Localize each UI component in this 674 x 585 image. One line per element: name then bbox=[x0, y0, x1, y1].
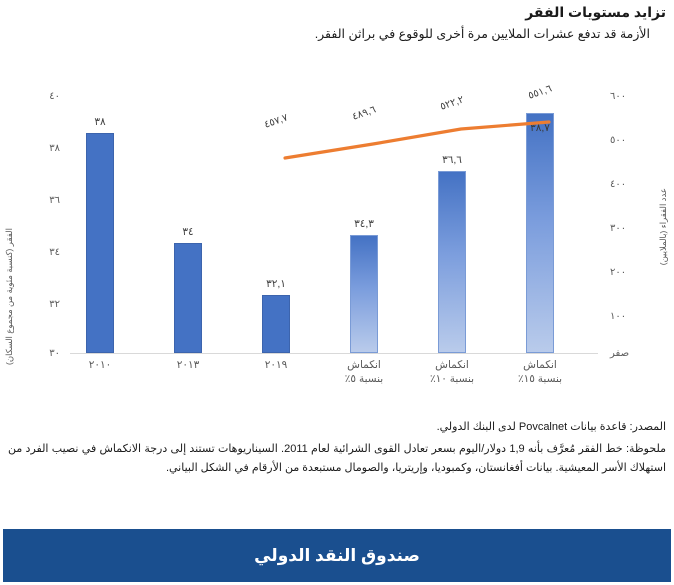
x-axis-label-2010: ٢٠١٠ bbox=[62, 358, 138, 372]
chart-subtitle: الأزمة قد تدفع عشرات الملايين مرة أخرى ل… bbox=[0, 21, 674, 43]
bar-value-label: ٣٨,٧ bbox=[514, 122, 566, 134]
right-axis-tick: صفر bbox=[610, 348, 646, 359]
footer-banner: صندوق النقد الدولي bbox=[3, 529, 671, 582]
line-value-label: ٥٢٢,٢ bbox=[439, 94, 466, 112]
line-value-label: ٤٨٩,٦ bbox=[351, 104, 378, 122]
left-axis-title: الفقر (كنسبة مئوية من مجموع السكان) bbox=[2, 228, 18, 365]
x-axis-line bbox=[70, 353, 598, 354]
bar-value-label: ٣٢,١ bbox=[250, 278, 302, 290]
left-axis-tick: ٤٠ bbox=[30, 91, 60, 102]
right-axis-tick: ٤٠٠ bbox=[610, 179, 646, 190]
x-axis-label-line2: بنسبة ٥٪ bbox=[345, 373, 383, 385]
bar-2019 bbox=[262, 295, 290, 353]
x-axis-label-scenario-5: انكماش بنسبة ٥٪ bbox=[326, 358, 402, 386]
x-axis-label-scenario-10: انكماش بنسبة ١٠٪ bbox=[414, 358, 490, 386]
footnote: ملحوظة: خط الفقر مُعرَّف بأنه 1,9 دولار/… bbox=[0, 436, 674, 478]
x-axis-label-line1: ٢٠١٠ bbox=[89, 359, 112, 371]
x-axis-label-line1: انكماش bbox=[347, 359, 381, 371]
footer-organization-name: صندوق النقد الدولي bbox=[254, 546, 420, 566]
left-axis-tick: ٣٨ bbox=[30, 143, 60, 154]
left-axis-tick: ٣٢ bbox=[30, 299, 60, 310]
x-axis-label-line1: ٢٠١٣ bbox=[177, 359, 200, 371]
bar-value-label: ٣٤ bbox=[162, 226, 214, 238]
x-axis-label-line1: انكماش bbox=[523, 359, 557, 371]
right-axis-tick: ٦٠٠ bbox=[610, 91, 646, 102]
right-axis-tick: ٣٠٠ bbox=[610, 223, 646, 234]
bar-scenario-5 bbox=[350, 235, 378, 353]
left-axis-tick: ٣٦ bbox=[30, 195, 60, 206]
right-axis-tick: ٥٠٠ bbox=[610, 135, 646, 146]
x-axis-label-2013: ٢٠١٣ bbox=[150, 358, 226, 372]
x-axis-label-line2: بنسبة ١٥٪ bbox=[518, 373, 562, 385]
line-value-label: ٤٥٧,٧ bbox=[263, 112, 290, 130]
bar-2010 bbox=[86, 133, 114, 353]
right-axis-tick: ٢٠٠ bbox=[610, 267, 646, 278]
chart-header: تزايد مستويات الفقر الأزمة قد تدفع عشرات… bbox=[0, 0, 674, 43]
x-axis-label-line2: بنسبة ١٠٪ bbox=[430, 373, 474, 385]
footer: صندوق النقد الدولي bbox=[0, 522, 674, 585]
x-axis-labels: ٢٠١٠ ٢٠١٣ ٢٠١٩ انكماش بنسبة ٥٪ انكماش بن… bbox=[70, 358, 598, 414]
bar-scenario-10 bbox=[438, 171, 466, 353]
source-note: المصدر: قاعدة بيانات Povcalnet لدى البنك… bbox=[0, 418, 674, 436]
chart-canvas: الفقر (كنسبة مئوية من مجموع السكان) عدد … bbox=[0, 78, 674, 418]
line-value-label: ٥٥١,٦ bbox=[527, 83, 554, 101]
bar-value-label: ٣٨ bbox=[74, 116, 126, 128]
chart-page: تزايد مستويات الفقر الأزمة قد تدفع عشرات… bbox=[0, 0, 674, 585]
right-axis-tick: ١٠٠ bbox=[610, 311, 646, 322]
x-axis-label-scenario-15: انكماش بنسبة ١٥٪ bbox=[502, 358, 578, 386]
left-axis-tick: ٣٠ bbox=[30, 348, 60, 359]
plot-area: ٣٨ ٣٤ ٣٢,١ ٣٤,٣ ٣٦,٦ ٣٨,٧ ٤٥٧,٧ ٤٨٩,٦ ٥٢… bbox=[70, 78, 598, 353]
x-axis-label-2019: ٢٠١٩ bbox=[238, 358, 314, 372]
x-axis-label-line1: انكماش bbox=[435, 359, 469, 371]
chart-notes: المصدر: قاعدة بيانات Povcalnet لدى البنك… bbox=[0, 418, 674, 478]
bar-value-label: ٣٤,٣ bbox=[338, 218, 390, 230]
bar-2013 bbox=[174, 243, 202, 353]
x-axis-label-line1: ٢٠١٩ bbox=[265, 359, 288, 371]
left-axis-tick: ٣٤ bbox=[30, 247, 60, 258]
bar-value-label: ٣٦,٦ bbox=[426, 154, 478, 166]
bar-scenario-15 bbox=[526, 113, 554, 353]
right-axis-title: عدد الفقراء (بالملايين) bbox=[656, 188, 672, 265]
chart-title: تزايد مستويات الفقر bbox=[0, 0, 674, 21]
